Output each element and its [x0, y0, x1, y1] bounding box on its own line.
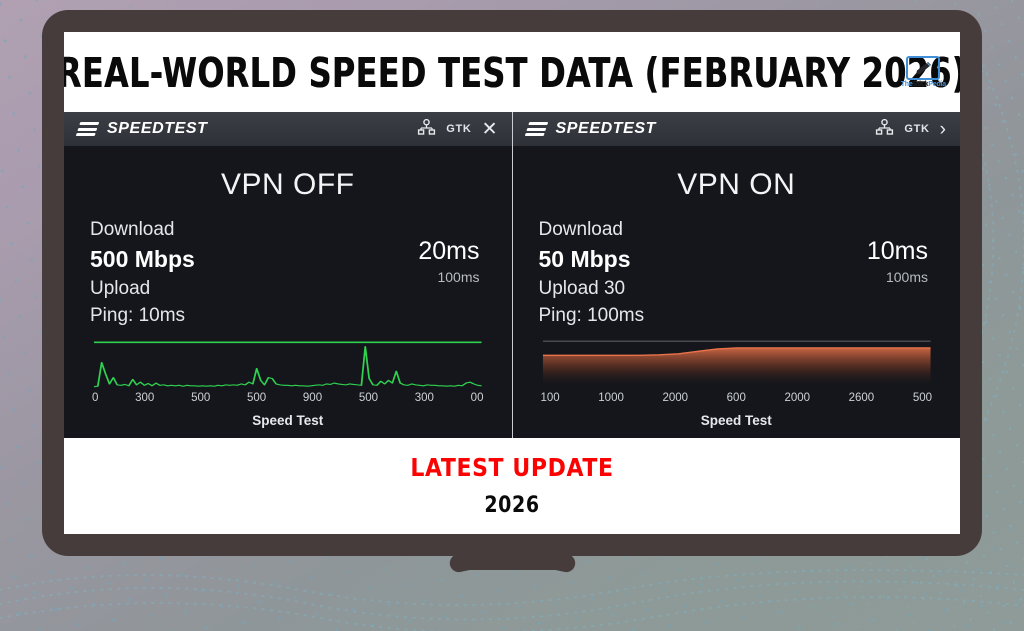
panel-vpn-off: SPEEDTEST GTK ✕ [64, 112, 513, 438]
axis-tick-label: 00 [471, 392, 484, 404]
latest-update-year: 2026 [484, 492, 539, 517]
download-value-left: 500 Mbps [90, 244, 195, 275]
vpn-off-chart [90, 338, 486, 391]
poster-footer: LATEST UPDATE 2026 [64, 438, 960, 534]
axis-tick-label: 1000 [598, 392, 624, 404]
speedtest-bars-icon [524, 122, 548, 136]
axis-tick-label: 600 [727, 392, 746, 404]
vpn-status-title-left: VPN OFF [90, 168, 486, 202]
speedtest-bars-icon [76, 122, 100, 136]
vpn-status-title-right: VPN ON [539, 168, 935, 202]
monitor-pen-icon [906, 56, 940, 80]
network-users-icon-left[interactable] [417, 119, 436, 140]
axis-tick-label: 500 [247, 392, 266, 404]
speedtest-comparison-area: SPEEDTEST GTK ✕ [64, 112, 960, 438]
panel-body-left: VPN OFF Download 500 Mbps Upload Ping: 1… [64, 146, 512, 438]
speedtest-wordmark-right: SPEEDTEST [556, 120, 657, 138]
vpn-on-chart [539, 338, 935, 391]
brand-name: TheStickPedia [901, 81, 946, 88]
account-label-right[interactable]: GTK [904, 123, 929, 135]
stats-row-right: Download 50 Mbps Upload 30 Ping: 100ms 1… [539, 216, 935, 330]
axis-tick-label: 500 [359, 392, 378, 404]
latency-primary-left: 20ms [418, 238, 479, 266]
panel-body-right: VPN ON Download 50 Mbps Upload 30 Ping: … [513, 146, 961, 438]
axis-tick-label: 2000 [784, 392, 810, 404]
download-value-right: 50 Mbps [539, 244, 645, 275]
brand-name-pedia: Pedia [928, 81, 946, 88]
account-label-left[interactable]: GTK [446, 123, 471, 135]
brand-name-the: The [901, 81, 913, 88]
axis-tick-label: 900 [303, 392, 322, 404]
network-users-icon-right[interactable] [875, 119, 894, 140]
latency-secondary-left: 100ms [418, 269, 479, 285]
pen-glyph [912, 60, 934, 76]
axis-tick-label: 0 [92, 392, 98, 404]
panel-vpn-on: SPEEDTEST GTK › [513, 112, 961, 438]
download-label-right: Download [539, 216, 645, 244]
chart-wrap-left: 030050050090050030000 Speed Test [90, 338, 486, 428]
brand-name-stick: Stick [913, 81, 929, 88]
speedtest-app-bar-right: SPEEDTEST GTK › [513, 112, 961, 146]
ping-label-right: Ping: 100ms [539, 302, 645, 330]
poster-title-bar: REAL-WORLD SPEED TEST DATA (FEBRUARY 202… [64, 32, 960, 112]
latency-primary-right: 10ms [867, 238, 928, 266]
stats-block-right: Download 50 Mbps Upload 30 Ping: 100ms [539, 216, 645, 330]
poster-stage: REAL-WORLD SPEED TEST DATA (FEBRUARY 202… [0, 0, 1024, 631]
tv-frame: REAL-WORLD SPEED TEST DATA (FEBRUARY 202… [42, 10, 982, 556]
tv-screen: REAL-WORLD SPEED TEST DATA (FEBRUARY 202… [64, 32, 960, 534]
speedtest-app-bar-left: SPEEDTEST GTK ✕ [64, 112, 512, 146]
axis-tick-label: 300 [135, 392, 154, 404]
axis-tick-label: 100 [541, 392, 560, 404]
download-label-left: Download [90, 216, 195, 244]
latency-secondary-right: 100ms [867, 269, 928, 285]
stats-block-left: Download 500 Mbps Upload Ping: 10ms [90, 216, 195, 330]
close-icon[interactable]: ✕ [482, 120, 498, 139]
chart-caption-left: Speed Test [90, 413, 486, 428]
axis-tick-label: 500 [191, 392, 210, 404]
stats-row-left: Download 500 Mbps Upload Ping: 10ms 20ms… [90, 216, 486, 330]
axis-tick-label: 2600 [849, 392, 875, 404]
page-title: REAL-WORLD SPEED TEST DATA (FEBRUARY 202… [64, 48, 960, 97]
chevron-right-icon[interactable]: › [940, 120, 946, 139]
chart-caption-right: Speed Test [539, 413, 935, 428]
x-axis-ticks-right: 1001000200060020002600500 [539, 391, 935, 404]
brand-logo: TheStickPedia [901, 56, 946, 88]
axis-tick-label: 300 [415, 392, 434, 404]
axis-tick-label: 2000 [662, 392, 688, 404]
axis-tick-label: 500 [913, 392, 932, 404]
chart-wrap-right: 1001000200060020002600500 Speed Test [539, 338, 935, 428]
speedtest-wordmark-left: SPEEDTEST [107, 120, 208, 138]
ping-label-left: Ping: 10ms [90, 302, 195, 330]
x-axis-ticks-left: 030050050090050030000 [90, 391, 486, 404]
upload-label-right: Upload 30 [539, 275, 645, 303]
latest-update-label: LATEST UPDATE [410, 454, 613, 483]
latency-block-left: 20ms 100ms [418, 216, 485, 285]
upload-label-left: Upload [90, 275, 195, 303]
latency-block-right: 10ms 100ms [867, 216, 934, 285]
